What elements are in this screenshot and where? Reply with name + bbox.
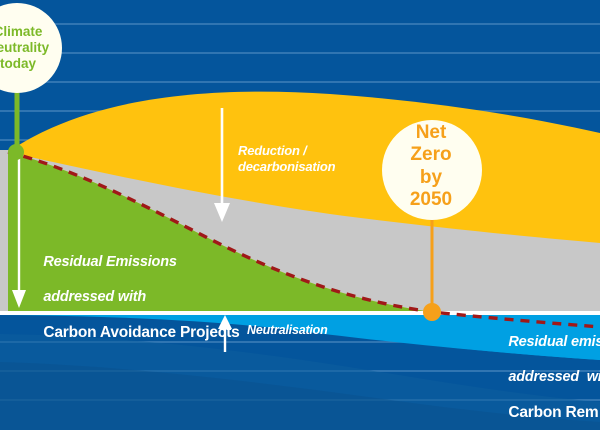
residual-removal-line-3: Carbon Rem bbox=[508, 404, 598, 421]
residual-avoidance-line-2: addressed with bbox=[43, 289, 146, 305]
residual-avoidance-line-3: Carbon Avoidance Projects bbox=[43, 324, 239, 341]
residual-removal-line-2: addressed wi bbox=[508, 369, 600, 385]
reduction-decarbonisation-label: Reduction / decarbonisation bbox=[238, 143, 335, 175]
net-zero-pathway-diagram: Climate Neutrality today Net Zero by 205… bbox=[0, 0, 600, 430]
residual-emissions-avoidance-label: Residual Emissions addressed with Carbon… bbox=[28, 236, 240, 361]
residual-emissions-removal-label: Residual emis addressed wi Carbon Rem bbox=[493, 316, 600, 430]
neutralisation-label: Neutralisation bbox=[247, 323, 328, 338]
residual-avoidance-line-1: Residual Emissions bbox=[43, 254, 176, 270]
residual-removal-line-1: Residual emis bbox=[508, 334, 600, 350]
net-zero-marker-dot bbox=[423, 303, 441, 321]
net-zero-bubble-label: Net Zero by 2050 bbox=[383, 122, 479, 212]
climate-neutrality-bubble-label: Climate Neutrality today bbox=[0, 24, 64, 73]
climate-neutrality-marker-dot bbox=[8, 144, 24, 160]
